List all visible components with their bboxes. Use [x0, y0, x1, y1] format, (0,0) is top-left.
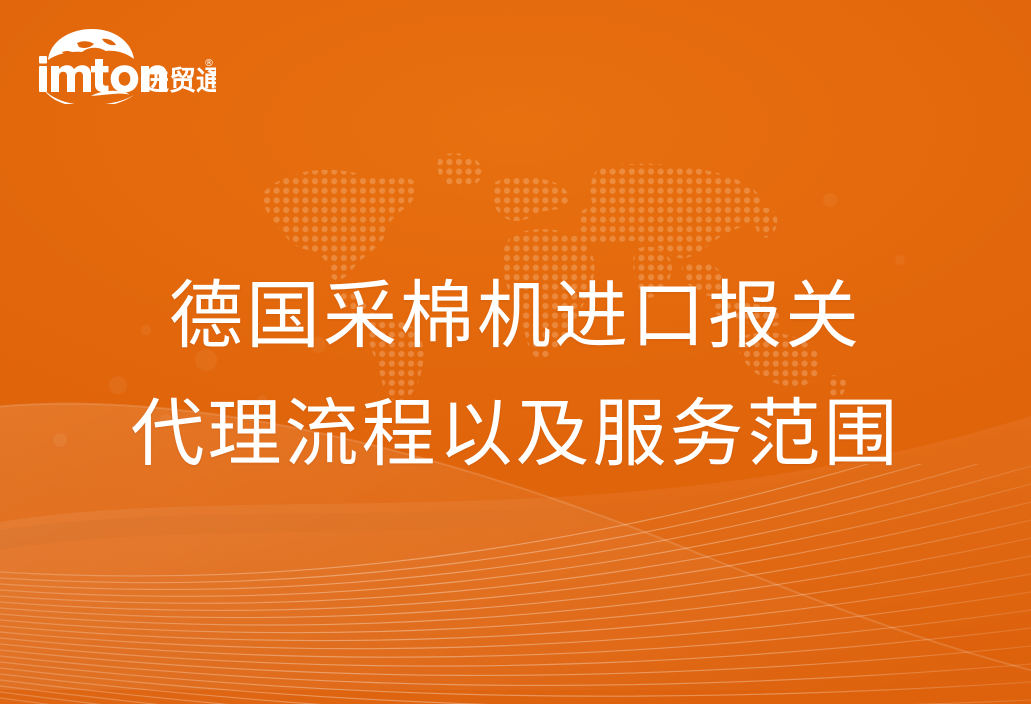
- globe-arc-icon: [48, 29, 134, 60]
- trademark-symbol: ®: [204, 58, 214, 69]
- promo-banner: 进贸通 ® 德国采棉机进口报关 代理流程以及服务范围: [0, 0, 1031, 704]
- logo-chinese-name: 进贸通: [142, 66, 216, 97]
- background-base: [0, 0, 1031, 704]
- imton-logo[interactable]: 进贸通 ®: [36, 26, 216, 104]
